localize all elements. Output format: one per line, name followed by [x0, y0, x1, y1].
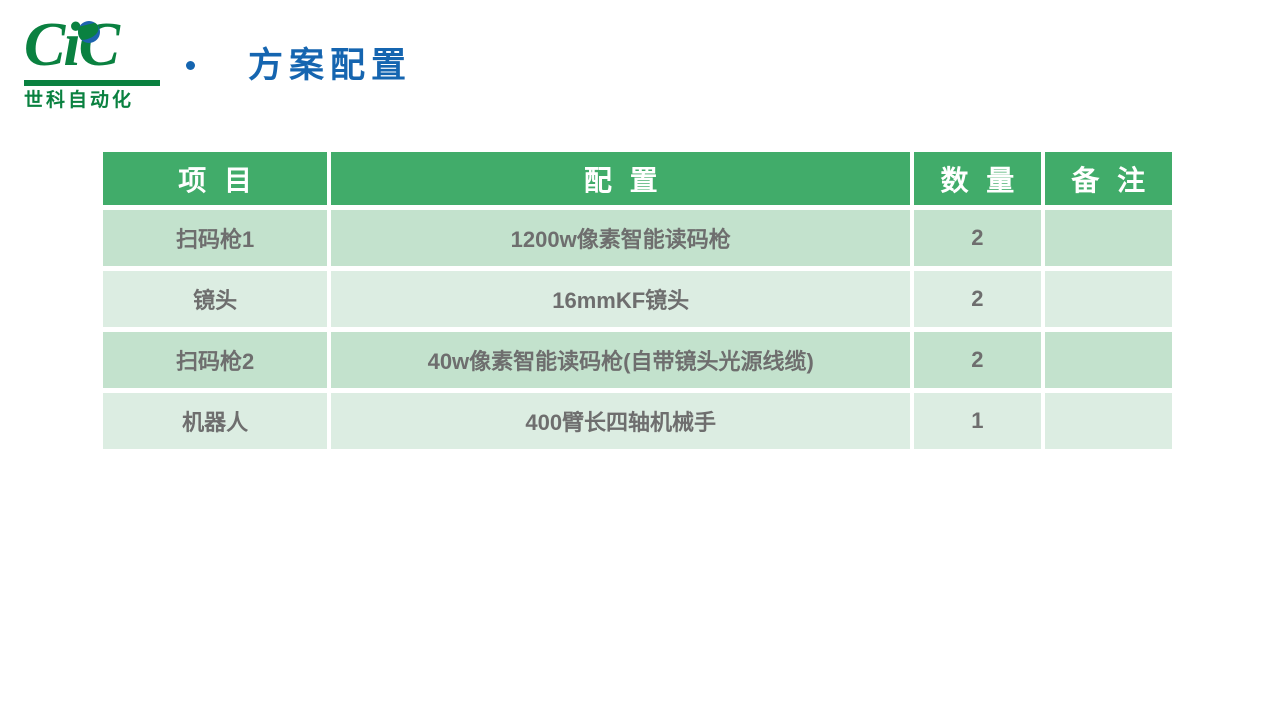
cell-config: 40w像素智能读码枪(自带镜头光源线缆)	[331, 332, 910, 388]
cell-qty: 2	[914, 210, 1040, 266]
column-header-config: 配 置	[331, 152, 910, 205]
cell-item: 镜头	[103, 271, 327, 327]
cell-qty: 2	[914, 271, 1040, 327]
logo-subtitle: 世科自动化	[24, 90, 160, 113]
column-header-qty: 数 量	[914, 152, 1040, 205]
cell-item: 机器人	[103, 393, 327, 449]
globe-icon	[78, 21, 100, 43]
cell-qty: 1	[914, 393, 1040, 449]
table-row: 镜头 16mmKF镜头 2	[103, 271, 1172, 327]
cell-item: 扫码枪2	[103, 332, 327, 388]
cell-note	[1045, 332, 1172, 388]
table-header-row: 项 目 配 置 数 量 备 注	[103, 152, 1172, 205]
logo-mark: CiC 世科自动化	[22, 18, 162, 84]
cell-note	[1045, 393, 1172, 449]
cell-qty: 2	[914, 332, 1040, 388]
table-head: 项 目 配 置 数 量 备 注	[103, 152, 1172, 205]
column-header-item: 项 目	[103, 152, 327, 205]
cell-note	[1045, 210, 1172, 266]
table-row: 机器人 400臂长四轴机械手 1	[103, 393, 1172, 449]
table-row: 扫码枪1 1200w像素智能读码枪 2	[103, 210, 1172, 266]
cell-config: 16mmKF镜头	[331, 271, 910, 327]
slide-header: CiC 世科自动化 方案配置	[0, 0, 1280, 130]
logo-divider	[24, 80, 160, 86]
bullet-dot-icon	[186, 61, 195, 70]
cell-config: 400臂长四轴机械手	[331, 393, 910, 449]
logo-wordmark: CiC	[24, 14, 118, 76]
table-row: 扫码枪2 40w像素智能读码枪(自带镜头光源线缆) 2	[103, 332, 1172, 388]
cell-config: 1200w像素智能读码枪	[331, 210, 910, 266]
configuration-table: 项 目 配 置 数 量 备 注 扫码枪1 1200w像素智能读码枪 2 镜头 1…	[99, 147, 1176, 454]
cell-note	[1045, 271, 1172, 327]
table-body: 扫码枪1 1200w像素智能读码枪 2 镜头 16mmKF镜头 2 扫码枪2 4…	[103, 210, 1172, 449]
cell-item: 扫码枪1	[103, 210, 327, 266]
company-logo: CiC 世科自动化	[22, 18, 162, 118]
page-title: 方案配置	[248, 48, 412, 83]
page-title-row: 方案配置	[186, 40, 412, 90]
column-header-note: 备 注	[1045, 152, 1172, 205]
